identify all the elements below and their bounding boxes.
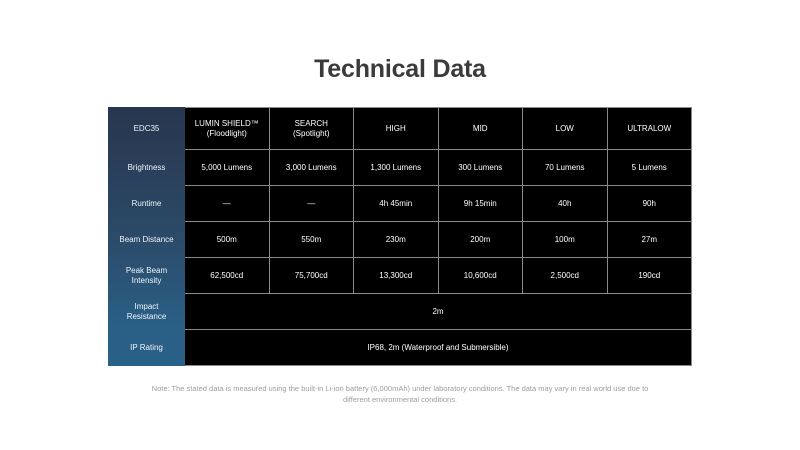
cell-runtime-high: 4h 45min [354,186,439,222]
cell-peak-beam-low: 2,500cd [523,258,608,294]
cell-beam-distance-search: 550m [269,222,354,258]
header-label-ultralow: ULTRALOW [627,124,671,133]
table-body: EDC35 LUMIN SHIELD™ (Floodlight) SEARCH … [109,108,692,366]
table-header-cell-model: EDC35 [109,108,185,150]
footnote: Note: The stated data is measured using … [150,383,650,406]
technical-data-page: Technical Data EDC35 LUMIN SHIELD™ (Floo… [0,0,800,450]
row-label-brightness: Brightness [109,150,185,186]
cell-peak-beam-high: 13,300cd [354,258,439,294]
row-label-beam-distance: Beam Distance [109,222,185,258]
header-label-high: HIGH [386,124,406,133]
row-label-text: Beam Distance [119,235,173,244]
cell-brightness-mid: 300 Lumens [438,150,523,186]
cell-brightness-high: 1,300 Lumens [354,150,439,186]
page-title: Technical Data [0,55,800,84]
row-label-peak-beam-intensity: Peak Beam Intensity [109,258,185,294]
header-sublabel-search: (Spotlight) [293,129,329,138]
cell-peak-beam-mid: 10,600cd [438,258,523,294]
row-label-text: Impact [134,302,158,311]
cell-peak-beam-lumin-shield: 62,500cd [185,258,270,294]
row-label-text: Brightness [128,163,166,172]
cell-runtime-low: 40h [523,186,608,222]
cell-brightness-low: 70 Lumens [523,150,608,186]
cell-brightness-ultralow: 5 Lumens [607,150,692,186]
row-label-ip-rating: IP Rating [109,330,185,366]
cell-beam-distance-mid: 200m [438,222,523,258]
table-row: Impact Resistance 2m [109,294,692,330]
header-label-low: LOW [556,124,574,133]
cell-impact-resistance-value: 2m [185,294,692,330]
cell-beam-distance-high: 230m [354,222,439,258]
header-label-mid: MID [473,124,488,133]
cell-brightness-lumin-shield: 5,000 Lumens [185,150,270,186]
row-label-text: Runtime [132,199,162,208]
table-header-cell-search: SEARCH (Spotlight) [269,108,354,150]
cell-peak-beam-ultralow: 190cd [607,258,692,294]
header-label-lumin-shield: LUMIN SHIELD™ [195,119,259,128]
table-row: Brightness 5,000 Lumens 3,000 Lumens 1,3… [109,150,692,186]
cell-beam-distance-lumin-shield: 500m [185,222,270,258]
cell-runtime-search: — [269,186,354,222]
table-header-cell-low: LOW [523,108,608,150]
table-header-row: EDC35 LUMIN SHIELD™ (Floodlight) SEARCH … [109,108,692,150]
cell-ip-rating-value: IP68, 2m (Waterproof and Submersible) [185,330,692,366]
row-label-impact-resistance: Impact Resistance [109,294,185,330]
header-label-search: SEARCH [295,119,328,128]
table-row: Beam Distance 500m 550m 230m 200m 100m 2… [109,222,692,258]
table-row: Peak Beam Intensity 62,500cd 75,700cd 13… [109,258,692,294]
table-header-cell-high: HIGH [354,108,439,150]
table-header-cell-lumin-shield: LUMIN SHIELD™ (Floodlight) [185,108,270,150]
row-label-text: Peak Beam [126,266,167,275]
header-label-model: EDC35 [134,124,160,133]
cell-peak-beam-search: 75,700cd [269,258,354,294]
cell-brightness-search: 3,000 Lumens [269,150,354,186]
row-label-text-line2: Intensity [132,276,162,285]
table-header-cell-mid: MID [438,108,523,150]
cell-beam-distance-ultralow: 27m [607,222,692,258]
header-sublabel-lumin-shield: (Floodlight) [207,129,247,138]
row-label-text: IP Rating [130,343,163,352]
cell-runtime-mid: 9h 15min [438,186,523,222]
cell-runtime-ultralow: 90h [607,186,692,222]
table-header-cell-ultralow: ULTRALOW [607,108,692,150]
row-label-text-line2: Resistance [127,312,167,321]
table-row: IP Rating IP68, 2m (Waterproof and Subme… [109,330,692,366]
technical-data-table: EDC35 LUMIN SHIELD™ (Floodlight) SEARCH … [108,107,692,366]
table-row: Runtime — — 4h 45min 9h 15min 40h 90h [109,186,692,222]
cell-beam-distance-low: 100m [523,222,608,258]
row-label-runtime: Runtime [109,186,185,222]
cell-runtime-lumin-shield: — [185,186,270,222]
technical-data-table-container: EDC35 LUMIN SHIELD™ (Floodlight) SEARCH … [108,107,692,366]
